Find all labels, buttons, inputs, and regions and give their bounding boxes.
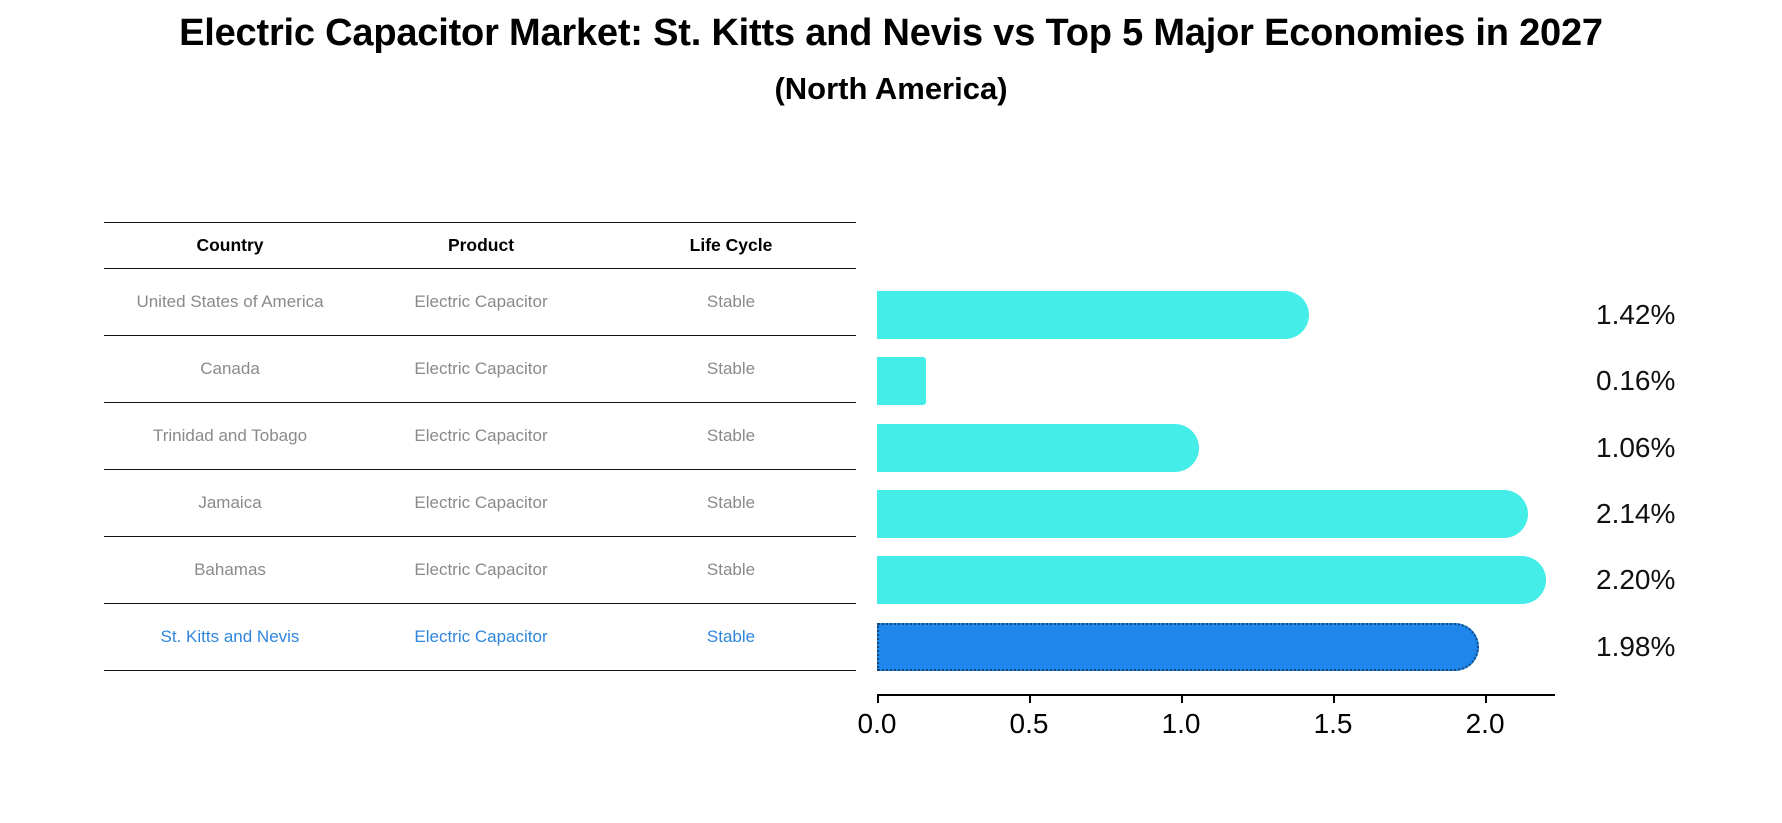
- table-row[interactable]: Bahamas Electric Capacitor Stable: [104, 537, 856, 603]
- x-axis-tick: [877, 694, 879, 703]
- table-row-highlighted[interactable]: St. Kitts and Nevis Electric Capacitor S…: [104, 604, 856, 670]
- title-line-2: (North America): [0, 70, 1782, 109]
- x-axis-tick-label: 0.5: [1010, 708, 1049, 740]
- table-row[interactable]: Canada Electric Capacitor Stable: [104, 336, 856, 402]
- cell-product: Electric Capacitor: [356, 359, 606, 379]
- cell-life-cycle: Stable: [606, 493, 856, 513]
- cell-life-cycle: Stable: [606, 426, 856, 446]
- x-axis-tick-label: 1.0: [1162, 708, 1201, 740]
- cell-country: St. Kitts and Nevis: [104, 627, 356, 647]
- x-axis-tick: [1333, 694, 1335, 703]
- cell-product: Electric Capacitor: [356, 493, 606, 513]
- bar-value-label: 1.42%: [1596, 299, 1675, 331]
- x-axis-line: [877, 694, 1555, 696]
- cell-life-cycle: Stable: [606, 359, 856, 379]
- column-header-life-cycle: Life Cycle: [606, 235, 856, 256]
- cell-product: Electric Capacitor: [356, 560, 606, 580]
- cell-country: United States of America: [104, 292, 356, 312]
- bar-value-label: 0.16%: [1596, 365, 1675, 397]
- x-axis-tick-label: 1.5: [1314, 708, 1353, 740]
- cell-life-cycle: Stable: [606, 292, 856, 312]
- cell-product: Electric Capacitor: [356, 292, 606, 312]
- page-title: Electric Capacitor Market: St. Kitts and…: [0, 10, 1782, 108]
- cell-product: Electric Capacitor: [356, 426, 606, 446]
- table-rule-bottom: [104, 670, 856, 671]
- bar-jamaica: [877, 490, 1528, 538]
- bar-value-label: 2.20%: [1596, 564, 1675, 596]
- bar-canada: [877, 357, 926, 405]
- bar-trinidad-and-tobago: [877, 424, 1199, 472]
- bar-value-label: 1.98%: [1596, 631, 1675, 663]
- bar-value-label: 2.14%: [1596, 498, 1675, 530]
- cell-product: Electric Capacitor: [356, 627, 606, 647]
- x-axis-tick: [1181, 694, 1183, 703]
- title-line-1: Electric Capacitor Market: St. Kitts and…: [0, 10, 1782, 58]
- cell-life-cycle: Stable: [606, 560, 856, 580]
- bar-st-kitts-and-nevis: [877, 623, 1479, 671]
- cell-country: Jamaica: [104, 493, 356, 513]
- column-header-product: Product: [356, 235, 606, 256]
- cell-country: Canada: [104, 359, 356, 379]
- cell-life-cycle: Stable: [606, 627, 856, 647]
- table-header-row: Country Product Life Cycle: [104, 223, 856, 268]
- table-row[interactable]: United States of America Electric Capaci…: [104, 269, 856, 335]
- table-row[interactable]: Jamaica Electric Capacitor Stable: [104, 470, 856, 536]
- x-axis-tick-label: 2.0: [1466, 708, 1505, 740]
- x-axis-tick: [1029, 694, 1031, 703]
- country-table: Country Product Life Cycle United States…: [104, 222, 856, 671]
- x-axis-tick-label: 0.0: [858, 708, 897, 740]
- cell-country: Trinidad and Tobago: [104, 426, 356, 446]
- column-header-country: Country: [104, 235, 356, 256]
- bar-value-label: 1.06%: [1596, 432, 1675, 464]
- bar-united-states-of-america: [877, 291, 1309, 339]
- bar-bahamas: [877, 556, 1546, 604]
- x-axis-tick: [1485, 694, 1487, 703]
- cell-country: Bahamas: [104, 560, 356, 580]
- table-row[interactable]: Trinidad and Tobago Electric Capacitor S…: [104, 403, 856, 469]
